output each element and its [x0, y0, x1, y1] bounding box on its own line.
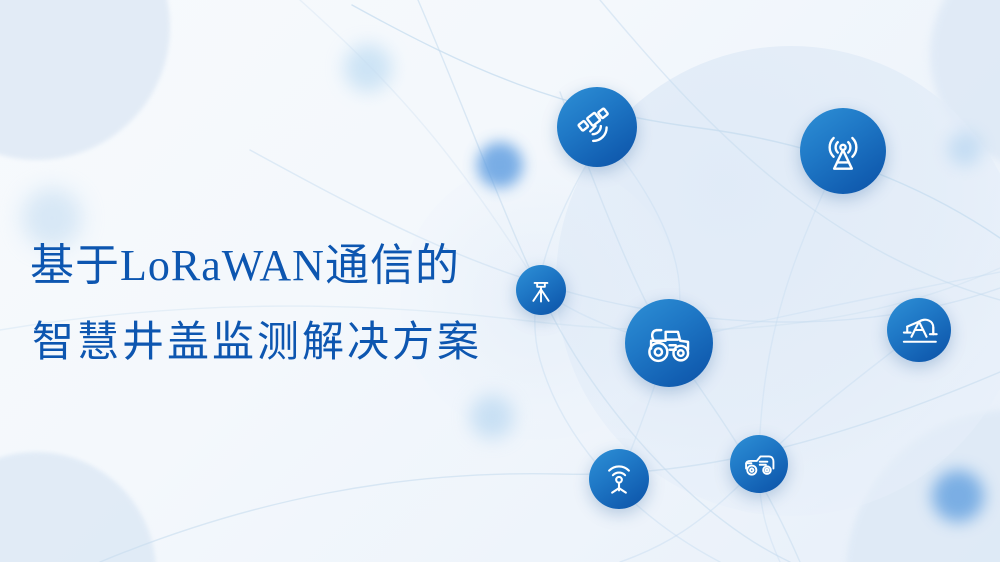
background-blob-right-edge [930, 0, 1000, 170]
tractor-icon [641, 315, 697, 371]
radio-tower-icon [817, 125, 869, 177]
node-survey-tripod[interactable] [516, 265, 566, 315]
slide-canvas: 基于LoRaWAN通信的 智慧井盖监测解决方案 [0, 0, 1000, 562]
signal-beacon-icon [600, 460, 638, 498]
harvester-vehicle-icon [740, 445, 778, 483]
node-oil-pumpjack[interactable] [887, 298, 951, 362]
background-dot-b [477, 142, 523, 188]
satellite-dish-icon [573, 103, 621, 151]
title-line-1: 基于LoRaWAN通信的 [30, 228, 482, 304]
node-radio-tower[interactable] [800, 108, 886, 194]
title-line-2: 智慧井盖监测解决方案 [30, 304, 482, 380]
background-dot-f [948, 132, 982, 166]
background-blob-top-left [0, 0, 170, 160]
background-dot-a [344, 44, 392, 92]
node-signal-beacon[interactable] [589, 449, 649, 509]
background-blob-bottom-right [846, 410, 1000, 562]
slide-title: 基于LoRaWAN通信的 智慧井盖监测解决方案 [30, 228, 482, 380]
oil-pumpjack-icon [898, 309, 940, 351]
background-blob-bottom-left [0, 452, 156, 562]
node-satellite-dish[interactable] [557, 87, 637, 167]
background-dot-d [470, 395, 514, 439]
survey-tripod-icon [525, 274, 557, 306]
background-dot-e [932, 470, 984, 522]
node-harvester-vehicle[interactable] [730, 435, 788, 493]
node-tractor[interactable] [625, 299, 713, 387]
